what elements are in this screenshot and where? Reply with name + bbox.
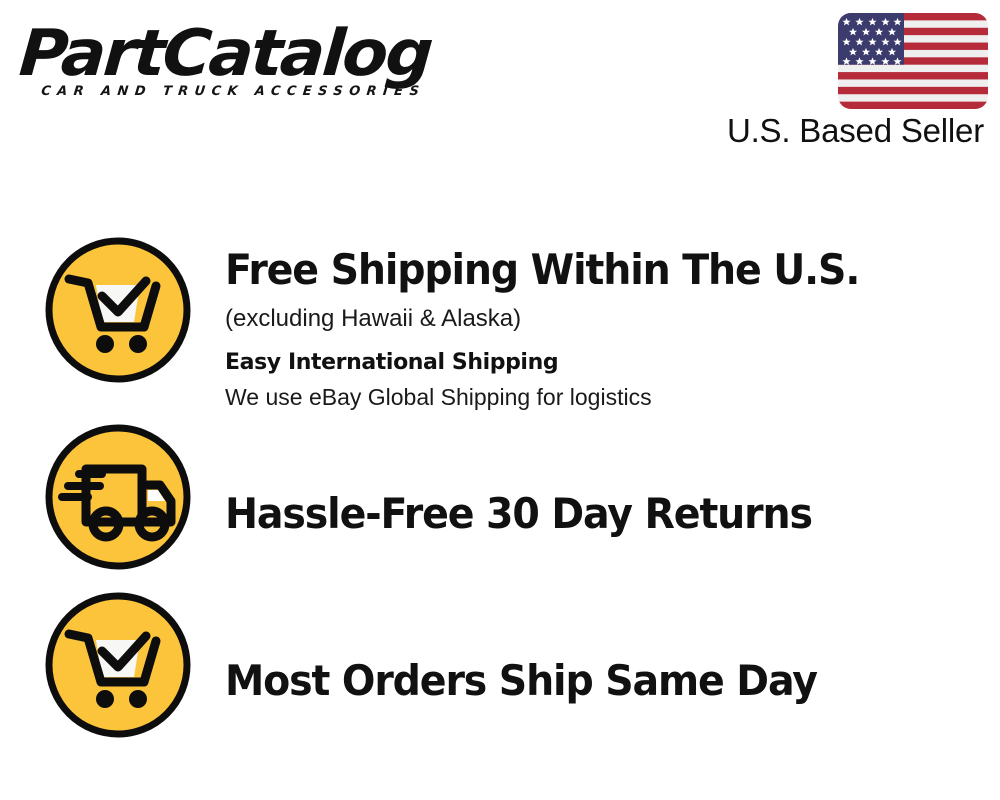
brand-logo: PartCatalog xyxy=(22,20,492,120)
feature-sub-note: We use eBay Global Shipping for logistic… xyxy=(225,381,1000,413)
us-based-seller-label: U.S. Based Seller xyxy=(727,112,984,150)
feature-title: Free Shipping Within The U.S. xyxy=(225,245,954,295)
shopping-cart-check-icon xyxy=(44,236,192,384)
brand-tagline: CAR AND TRUCK ACCESSORIES xyxy=(40,84,426,99)
feature-note: (excluding Hawaii & Alaska) xyxy=(225,302,1000,336)
us-flag-icon xyxy=(838,13,988,109)
feature-text-block: Free Shipping Within The U.S. (excluding… xyxy=(192,236,1000,413)
feature-text-block: Most Orders Ship Same Day xyxy=(192,588,1000,706)
delivery-truck-icon xyxy=(44,423,192,571)
page-header: PartCatalog CAR AND TRUCK ACCESSORIES xyxy=(0,0,1000,175)
feature-title: Most Orders Ship Same Day xyxy=(225,656,954,706)
shopping-cart-check-icon xyxy=(44,591,192,739)
feature-row: Hassle-Free 30 Day Returns xyxy=(0,416,1000,588)
feature-sub-title: Easy International Shipping xyxy=(225,348,1000,378)
feature-row: Free Shipping Within The U.S. (excluding… xyxy=(0,236,1000,416)
feature-list: Free Shipping Within The U.S. (excluding… xyxy=(0,236,1000,758)
brand-wordmark: PartCatalog xyxy=(17,20,511,88)
feature-text-block: Hassle-Free 30 Day Returns xyxy=(192,416,1000,539)
feature-row: Most Orders Ship Same Day xyxy=(0,588,1000,758)
feature-title: Hassle-Free 30 Day Returns xyxy=(225,489,954,539)
